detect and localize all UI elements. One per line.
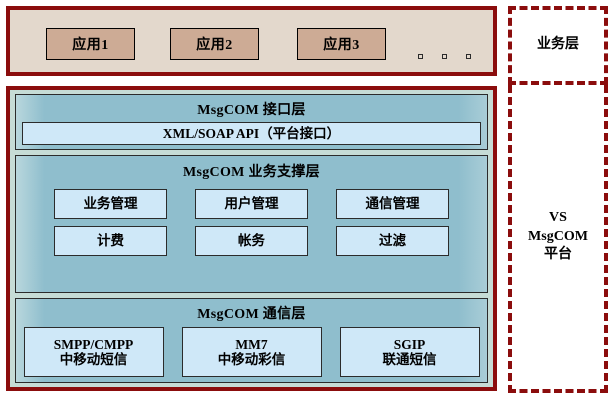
annotation-platform-line-2: MsgCOM: [528, 228, 588, 247]
api-box[interactable]: XML/SOAP API（平台接口）: [22, 122, 481, 145]
channel-smpp-cmpp[interactable]: SMPP/CMPP 中移动短信: [24, 327, 164, 377]
layer-communication-title: MsgCOM 通信层: [16, 303, 487, 323]
channel-mm7-label: 中移动彩信: [218, 352, 286, 367]
layer-interface-title: MsgCOM 接口层: [21, 99, 482, 119]
communication-row: SMPP/CMPP 中移动短信 MM7 中移动彩信 SGIP 联通短信: [16, 327, 487, 377]
application-box-3-label: 应用3: [323, 34, 360, 54]
ellipsis-dot: [442, 54, 447, 59]
module-business-management[interactable]: 业务管理: [54, 189, 167, 219]
module-business-management-label: 业务管理: [84, 196, 138, 211]
module-accounting[interactable]: 帐务: [195, 226, 308, 256]
channel-sgip-protocol: SGIP: [394, 337, 426, 352]
annotation-business-layer: 业务层: [508, 6, 608, 85]
application-box-2-label: 应用2: [196, 34, 233, 54]
annotation-platform-line-1: VS: [528, 209, 588, 228]
module-billing[interactable]: 计费: [54, 226, 167, 256]
ellipsis-dot: [466, 54, 471, 59]
channel-sgip[interactable]: SGIP 联通短信: [340, 327, 480, 377]
module-accounting-label: 帐务: [238, 233, 265, 248]
module-filtering[interactable]: 过滤: [336, 226, 449, 256]
application-box-3[interactable]: 应用3: [297, 28, 386, 60]
application-ellipsis-icon: [418, 54, 480, 64]
annotation-platform-line-3: 平台: [528, 246, 588, 265]
business-layer-region: 应用1 应用2 应用3: [6, 6, 497, 76]
api-box-label: XML/SOAP API（平台接口）: [163, 126, 340, 141]
ellipsis-dot: [418, 54, 423, 59]
annotation-platform: VS MsgCOM 平台: [508, 85, 608, 393]
application-box-1[interactable]: 应用1: [46, 28, 135, 60]
layer-business-support-title: MsgCOM 业务支撑层: [16, 161, 487, 181]
module-user-management[interactable]: 用户管理: [195, 189, 308, 219]
channel-smpp-cmpp-label: 中移动短信: [60, 352, 128, 367]
layer-interface: MsgCOM 接口层 XML/SOAP API（平台接口）: [15, 94, 488, 150]
module-billing-label: 计费: [97, 233, 124, 248]
platform-region: MsgCOM 接口层 XML/SOAP API（平台接口） MsgCOM 业务支…: [6, 86, 497, 391]
module-user-management-label: 用户管理: [225, 196, 279, 211]
architecture-diagram: 应用1 应用2 应用3 MsgCOM 接口层 XML/SOAP API（平台接口…: [0, 0, 614, 400]
channel-mm7-protocol: MM7: [235, 337, 267, 352]
layer-business-support: MsgCOM 业务支撑层 业务管理 用户管理 通信管理 计费 帐务: [15, 155, 488, 293]
annotation-business-layer-label: 业务层: [537, 36, 579, 55]
support-row-1: 业务管理 用户管理 通信管理: [16, 189, 487, 219]
application-box-2[interactable]: 应用2: [170, 28, 259, 60]
channel-smpp-cmpp-protocol: SMPP/CMPP: [54, 337, 133, 352]
module-communication-management-label: 通信管理: [366, 196, 420, 211]
module-filtering-label: 过滤: [379, 233, 406, 248]
module-communication-management[interactable]: 通信管理: [336, 189, 449, 219]
channel-mm7[interactable]: MM7 中移动彩信: [182, 327, 322, 377]
channel-sgip-label: 联通短信: [383, 352, 437, 367]
layer-communication: MsgCOM 通信层 SMPP/CMPP 中移动短信 MM7 中移动彩信 SGI…: [15, 298, 488, 383]
application-box-1-label: 应用1: [72, 34, 109, 54]
annotation-platform-label: VS MsgCOM 平台: [528, 209, 588, 266]
support-row-2: 计费 帐务 过滤: [16, 226, 487, 256]
